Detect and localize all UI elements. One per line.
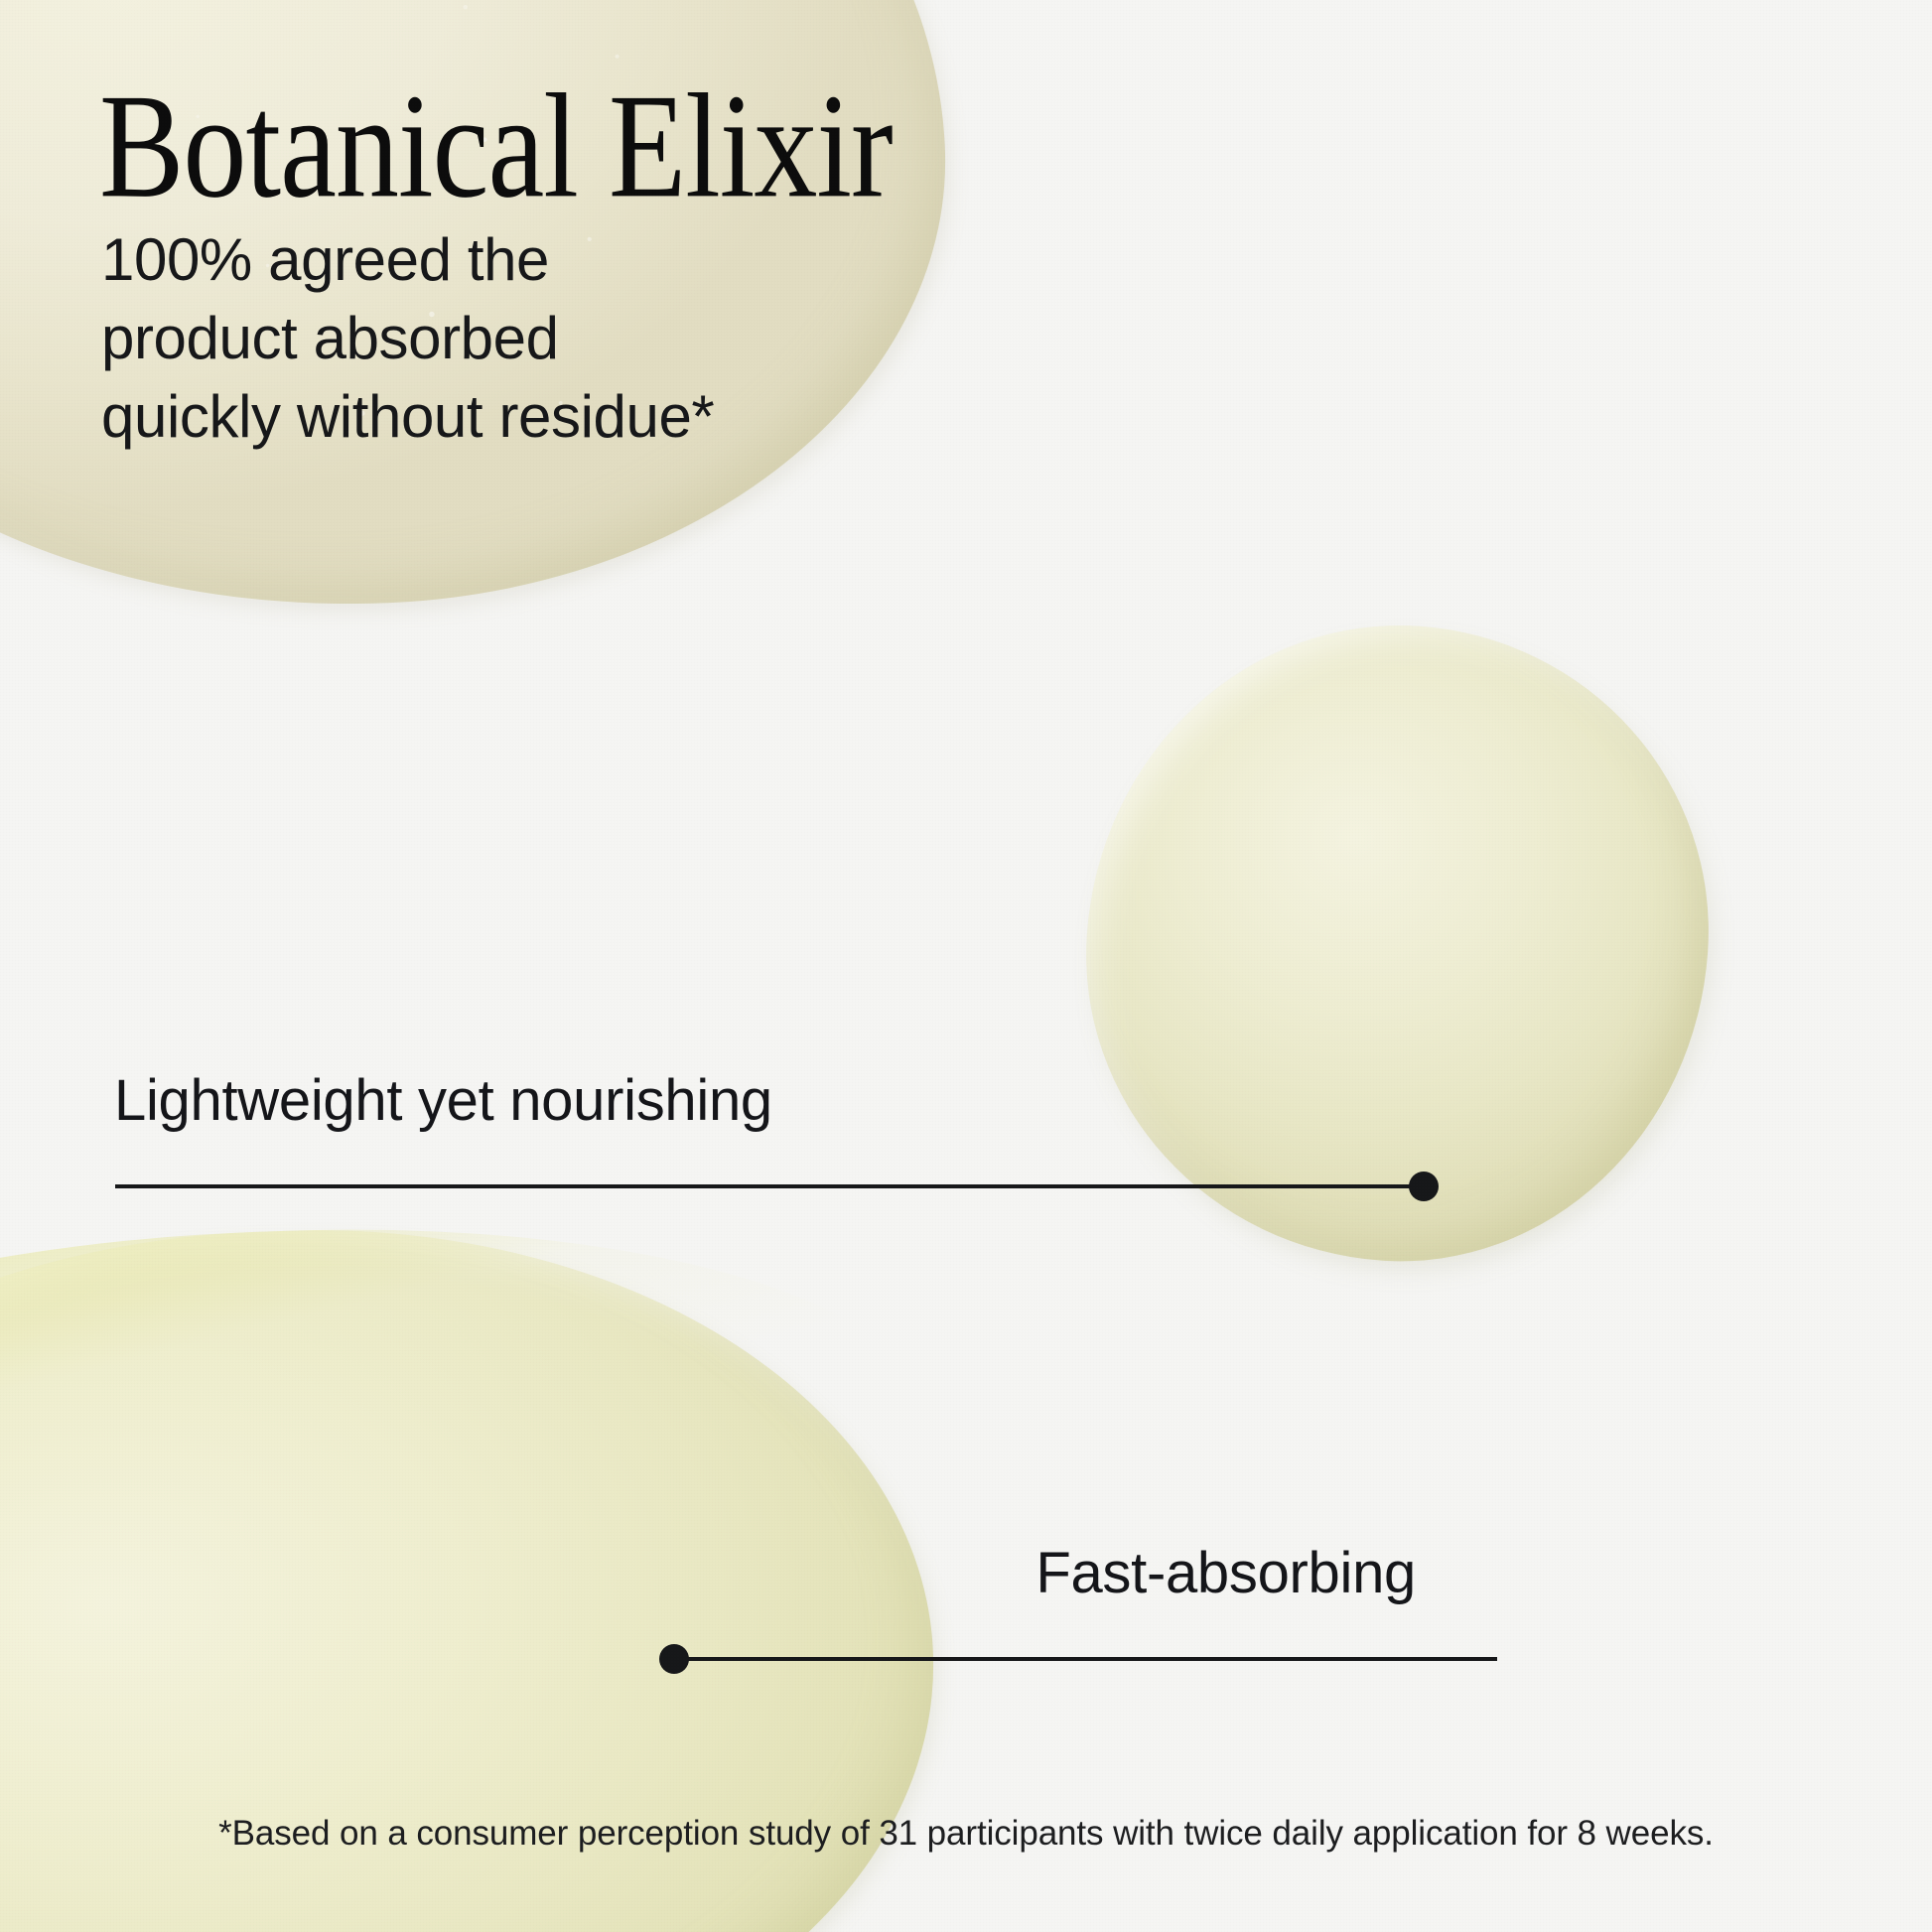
claim-statement: 100% agreed the product absorbed quickly… xyxy=(101,220,714,457)
callout-fast-absorbing-leader-dot xyxy=(659,1644,689,1674)
product-title: Botanical Elixir xyxy=(99,71,893,220)
callout-fast-absorbing-leader-line xyxy=(685,1657,1497,1661)
callout-lightweight-label: Lightweight yet nourishing xyxy=(114,1072,772,1130)
claim-line-2: product absorbed xyxy=(101,299,714,377)
claim-line-3: quickly without residue* xyxy=(101,377,714,456)
callout-fast-absorbing-label: Fast-absorbing xyxy=(1035,1545,1416,1602)
study-footnote: *Based on a consumer perception study of… xyxy=(0,1813,1932,1855)
callout-lightweight: Lightweight yet nourishing xyxy=(0,1072,1932,1201)
product-marketing-card: Botanical Elixir 100% agreed the product… xyxy=(0,0,1932,1932)
callout-lightweight-leader-dot xyxy=(1409,1172,1439,1201)
callout-fast-absorbing: Fast-absorbing xyxy=(0,1545,1932,1674)
claim-line-1: 100% agreed the xyxy=(101,220,714,299)
callout-lightweight-leader-line xyxy=(115,1184,1426,1188)
